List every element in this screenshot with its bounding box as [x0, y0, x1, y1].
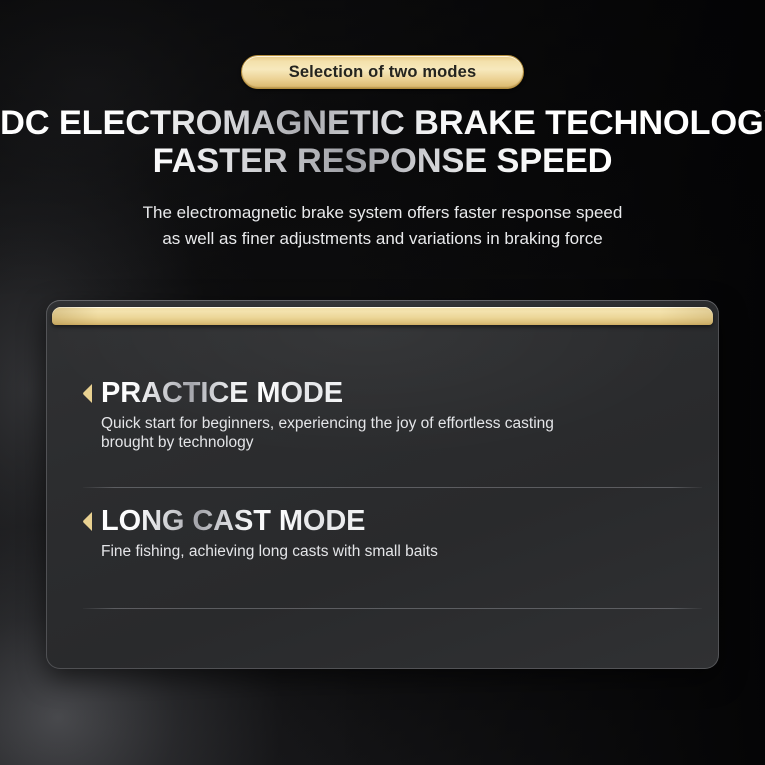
modes-card: PRACTICE MODE Quick start for beginners,…: [46, 300, 719, 669]
mode-description-line-2: brought by technology: [101, 433, 671, 452]
list-item[interactable]: PRACTICE MODE Quick start for beginners,…: [83, 377, 683, 452]
list-item[interactable]: LONG CAST MODE Fine fishing, achieving l…: [83, 505, 683, 561]
mode-title: LONG CAST MODE: [101, 505, 365, 538]
card-sheen: [46, 300, 719, 669]
mode-title-row: PRACTICE MODE: [83, 377, 683, 410]
mode-selection-badge: Selection of two modes: [241, 55, 524, 89]
mode-description-line-1: Fine fishing, achieving long casts with …: [101, 542, 671, 561]
mode-description-line-1: Quick start for beginners, experiencing …: [101, 414, 671, 433]
mode-divider: [83, 608, 702, 609]
card-gold-accent-bar: [52, 307, 713, 325]
page-title-line-1: DC ELECTROMAGNETIC BRAKE TECHNOLOGY: [0, 104, 765, 142]
mode-description: Quick start for beginners, experiencing …: [101, 414, 671, 452]
mode-description: Fine fishing, achieving long casts with …: [101, 542, 671, 561]
page-title-line-2: FASTER RESPONSE SPEED: [0, 142, 765, 180]
promo-page: Selection of two modes DC ELECTROMAGNETI…: [0, 0, 765, 765]
gold-left-marker-icon: [83, 384, 92, 403]
mode-title: PRACTICE MODE: [101, 377, 343, 410]
mode-title-row: LONG CAST MODE: [83, 505, 683, 538]
badge-label: Selection of two modes: [289, 63, 477, 82]
mode-divider: [83, 487, 702, 488]
badge-row: Selection of two modes: [0, 55, 765, 89]
page-subtitle-line-1: The electromagnetic brake system offers …: [0, 200, 765, 226]
gold-left-marker-icon: [83, 512, 92, 531]
card-gold-accent-bar-shading: [52, 307, 713, 325]
page-subtitle: The electromagnetic brake system offers …: [0, 200, 765, 251]
page-title: DC ELECTROMAGNETIC BRAKE TECHNOLOGY FAST…: [0, 104, 765, 180]
page-subtitle-line-2: as well as finer adjustments and variati…: [0, 226, 765, 252]
